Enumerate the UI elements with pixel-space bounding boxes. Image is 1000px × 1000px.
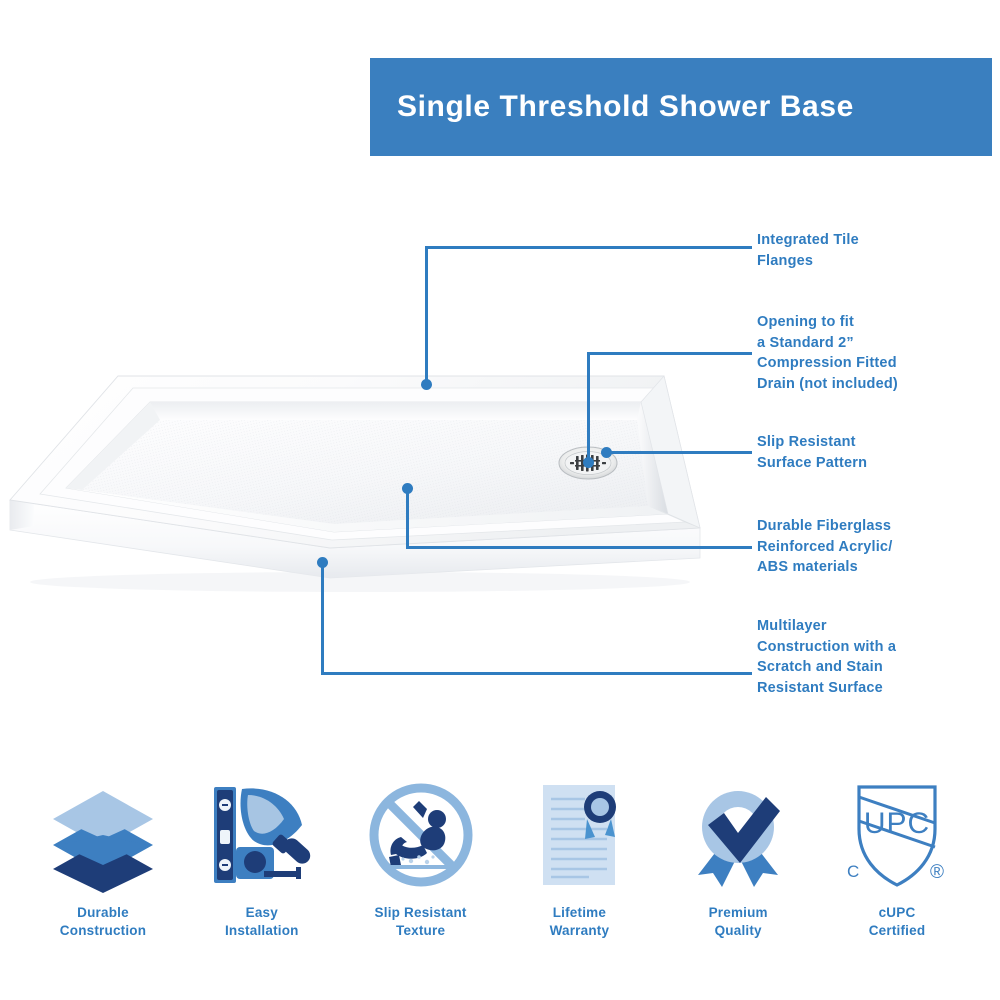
feature-lifetime-warranty: Lifetime Warranty: [504, 770, 654, 939]
cupc-shield-icon: UPC C ®: [837, 770, 957, 900]
leader-line-multilayer-horizontal: [321, 672, 752, 675]
callout-drain-opening: Opening to fit a Standard 2” Compression…: [757, 312, 898, 394]
no-slip-icon: [361, 770, 481, 900]
feature-label: Durable Construction: [60, 904, 146, 939]
shower-base-illustration: [0, 330, 760, 620]
feature-premium-quality: Premium Quality: [663, 770, 813, 939]
cupc-letters: UPC: [864, 807, 930, 840]
leader-line-material-vertical: [406, 488, 409, 548]
shower-base-svg: [0, 330, 760, 620]
certificate-icon: [519, 770, 639, 900]
feature-label: Easy Installation: [225, 904, 299, 939]
feature-easy-installation: Easy Installation: [187, 770, 337, 939]
layers-icon: [43, 770, 163, 900]
feature-slip-resistant-texture: Slip Resistant Texture: [346, 770, 496, 939]
callout-multilayer-construction: Multilayer Construction with a Scratch a…: [757, 616, 896, 698]
callout-slip-resistant-surface: Slip Resistant Surface Pattern: [757, 432, 867, 473]
callout-integrated-tile-flanges: Integrated Tile Flanges: [757, 230, 859, 271]
feature-durable-construction: Durable Construction: [28, 770, 178, 939]
leader-line-drain-vertical: [587, 352, 590, 462]
ribbon-check-icon: [678, 770, 798, 900]
feature-strip: Durable Construction: [0, 770, 1000, 970]
level-trowel-icon: [202, 770, 322, 900]
infographic-page: Single Threshold Shower Base: [0, 0, 1000, 1000]
feature-cupc-certified: UPC C ® cUPC Certified: [822, 770, 972, 939]
feature-label: Premium Quality: [709, 904, 768, 939]
leader-line-material-horizontal: [406, 546, 752, 549]
cupc-c-mark: C: [847, 862, 859, 881]
feature-label: cUPC Certified: [869, 904, 926, 939]
feature-label: Lifetime Warranty: [550, 904, 610, 939]
drop-shadow: [30, 572, 690, 592]
leader-line-multilayer-vertical: [321, 562, 324, 674]
leader-line-slip-horizontal: [606, 451, 752, 454]
leader-line-drain-horizontal: [587, 352, 752, 355]
basin-back-wall: [150, 402, 641, 420]
header-banner: Single Threshold Shower Base: [370, 58, 992, 156]
callout-durable-materials: Durable Fiberglass Reinforced Acrylic/ A…: [757, 516, 892, 578]
cupc-r-mark: ®: [930, 862, 944, 883]
leader-line-flanges-horizontal: [425, 246, 752, 249]
page-title: Single Threshold Shower Base: [370, 90, 854, 124]
feature-label: Slip Resistant Texture: [375, 904, 467, 939]
leader-line-flanges-vertical: [425, 246, 428, 384]
